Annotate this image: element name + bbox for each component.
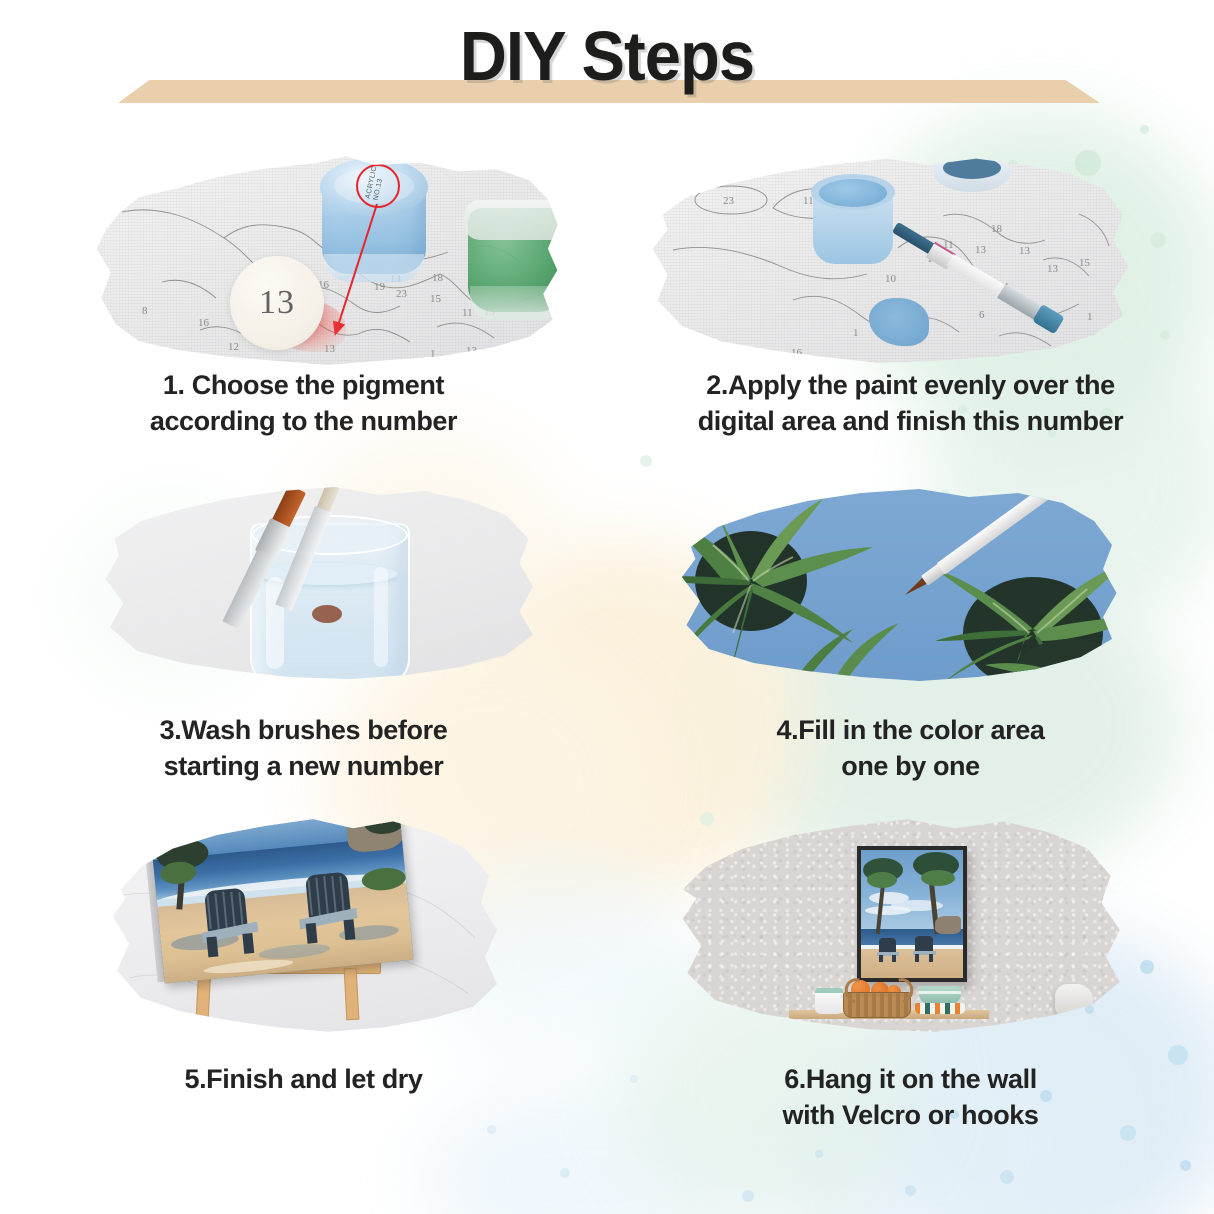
page-title: DIY Steps: [42, 16, 1171, 96]
step-1-caption: 1. Choose the pigment according to the n…: [0, 368, 607, 439]
svg-text:16: 16: [791, 347, 803, 359]
step-3-caption: 3.Wash brushes before starting a new num…: [0, 713, 607, 784]
svg-text:13: 13: [1019, 245, 1031, 257]
step-2-figure: 23 11 19 10 11 13 18 13 13 15 4 6 1 11: [607, 120, 1214, 365]
step-3: 3.Wash brushes before starting a new num…: [0, 455, 607, 790]
step-2: 23 11 19 10 11 13 18 13 13 15 4 6 1 11: [607, 120, 1214, 455]
paint-pot-lid: [933, 152, 1011, 192]
svg-text:15: 15: [494, 359, 506, 367]
palm-fronds: [673, 483, 1121, 683]
paint-surface-blue: [819, 179, 887, 207]
step-5: 5.Finish and let dry: [0, 790, 607, 1150]
magnifier-circle: 13: [230, 256, 324, 350]
step-6: 6.Hang it on the wall with Velcro or hoo…: [607, 790, 1214, 1150]
adirondack-chair-left: [198, 887, 260, 958]
step-6-caption-line-2: with Velcro or hooks: [607, 1098, 1214, 1134]
choose-pigment-photo: 8 16 12 13 19 16 14 23 15 18 11 15 1 13: [92, 152, 562, 367]
step-3-figure: [0, 455, 607, 700]
svg-text:23: 23: [723, 195, 735, 207]
step-2-caption: 2.Apply the paint evenly over the digita…: [607, 368, 1214, 439]
hang-on-wall-photo: [669, 808, 1129, 1034]
svg-text:13: 13: [975, 244, 987, 256]
step-1-caption-line-2: according to the number: [0, 404, 607, 440]
fill-color-area-photo: [673, 483, 1121, 683]
adirondack-chair-right: [295, 871, 359, 944]
step-4: 4.Fill in the color area one by one: [607, 455, 1214, 790]
step-4-caption-line-1: 4.Fill in the color area: [607, 713, 1214, 749]
pigment-residue: [312, 605, 342, 623]
step-5-figure: [0, 790, 607, 1045]
step-6-figure: [607, 790, 1214, 1045]
step-1: 8 16 12 13 19 16 14 23 15 18 11 15 1 13: [0, 120, 607, 455]
finished-beach-painting: [150, 810, 413, 983]
wall-hook: [1055, 984, 1093, 1018]
svg-text:6: 6: [979, 309, 985, 321]
svg-text:1: 1: [853, 327, 859, 339]
step-3-caption-line-1: 3.Wash brushes before: [0, 713, 607, 749]
paint-pot-blue-open: [811, 168, 895, 268]
svg-text:1: 1: [1087, 311, 1093, 323]
page-header: DIY Steps: [0, 0, 1214, 112]
step-4-caption-line-2: one by one: [607, 749, 1214, 785]
finished-painting-on-easel-photo: [105, 808, 505, 1034]
step-5-caption-line-1: 5.Finish and let dry: [0, 1062, 607, 1098]
step-4-figure: [607, 455, 1214, 700]
step-4-caption: 4.Fill in the color area one by one: [607, 713, 1214, 784]
diy-steps-grid: 8 16 12 13 19 16 14 23 15 18 11 15 1 13: [0, 120, 1214, 1214]
step-2-caption-line-2: digital area and finish this number: [607, 404, 1214, 440]
easel-leg-right: [344, 968, 360, 1021]
framed-painting: [857, 846, 967, 982]
step-2-caption-line-1: 2.Apply the paint evenly over the: [607, 368, 1214, 404]
magnifier-number: 13: [230, 256, 324, 350]
step-5-caption: 5.Finish and let dry: [0, 1062, 607, 1098]
step-6-caption: 6.Hang it on the wall with Velcro or hoo…: [607, 1062, 1214, 1133]
step-3-caption-line-2: starting a new number: [0, 749, 607, 785]
svg-text:13: 13: [1047, 263, 1059, 275]
svg-text:15: 15: [1079, 257, 1091, 269]
step-1-figure: 8 16 12 13 19 16 14 23 15 18 11 15 1 13: [0, 120, 607, 365]
step-6-caption-line-1: 6.Hang it on the wall: [607, 1062, 1214, 1098]
step-1-caption-line-1: 1. Choose the pigment: [0, 368, 607, 404]
svg-text:18: 18: [991, 223, 1003, 235]
svg-text:10: 10: [885, 273, 897, 285]
fruit-basket: [839, 980, 913, 1016]
apply-paint-photo: 23 11 19 10 11 13 18 13 13 15 4 6 1 11: [643, 150, 1133, 365]
wash-brushes-photo: [92, 483, 542, 683]
striped-plate: [915, 1003, 965, 1014]
bowl-stack: [915, 986, 965, 1016]
